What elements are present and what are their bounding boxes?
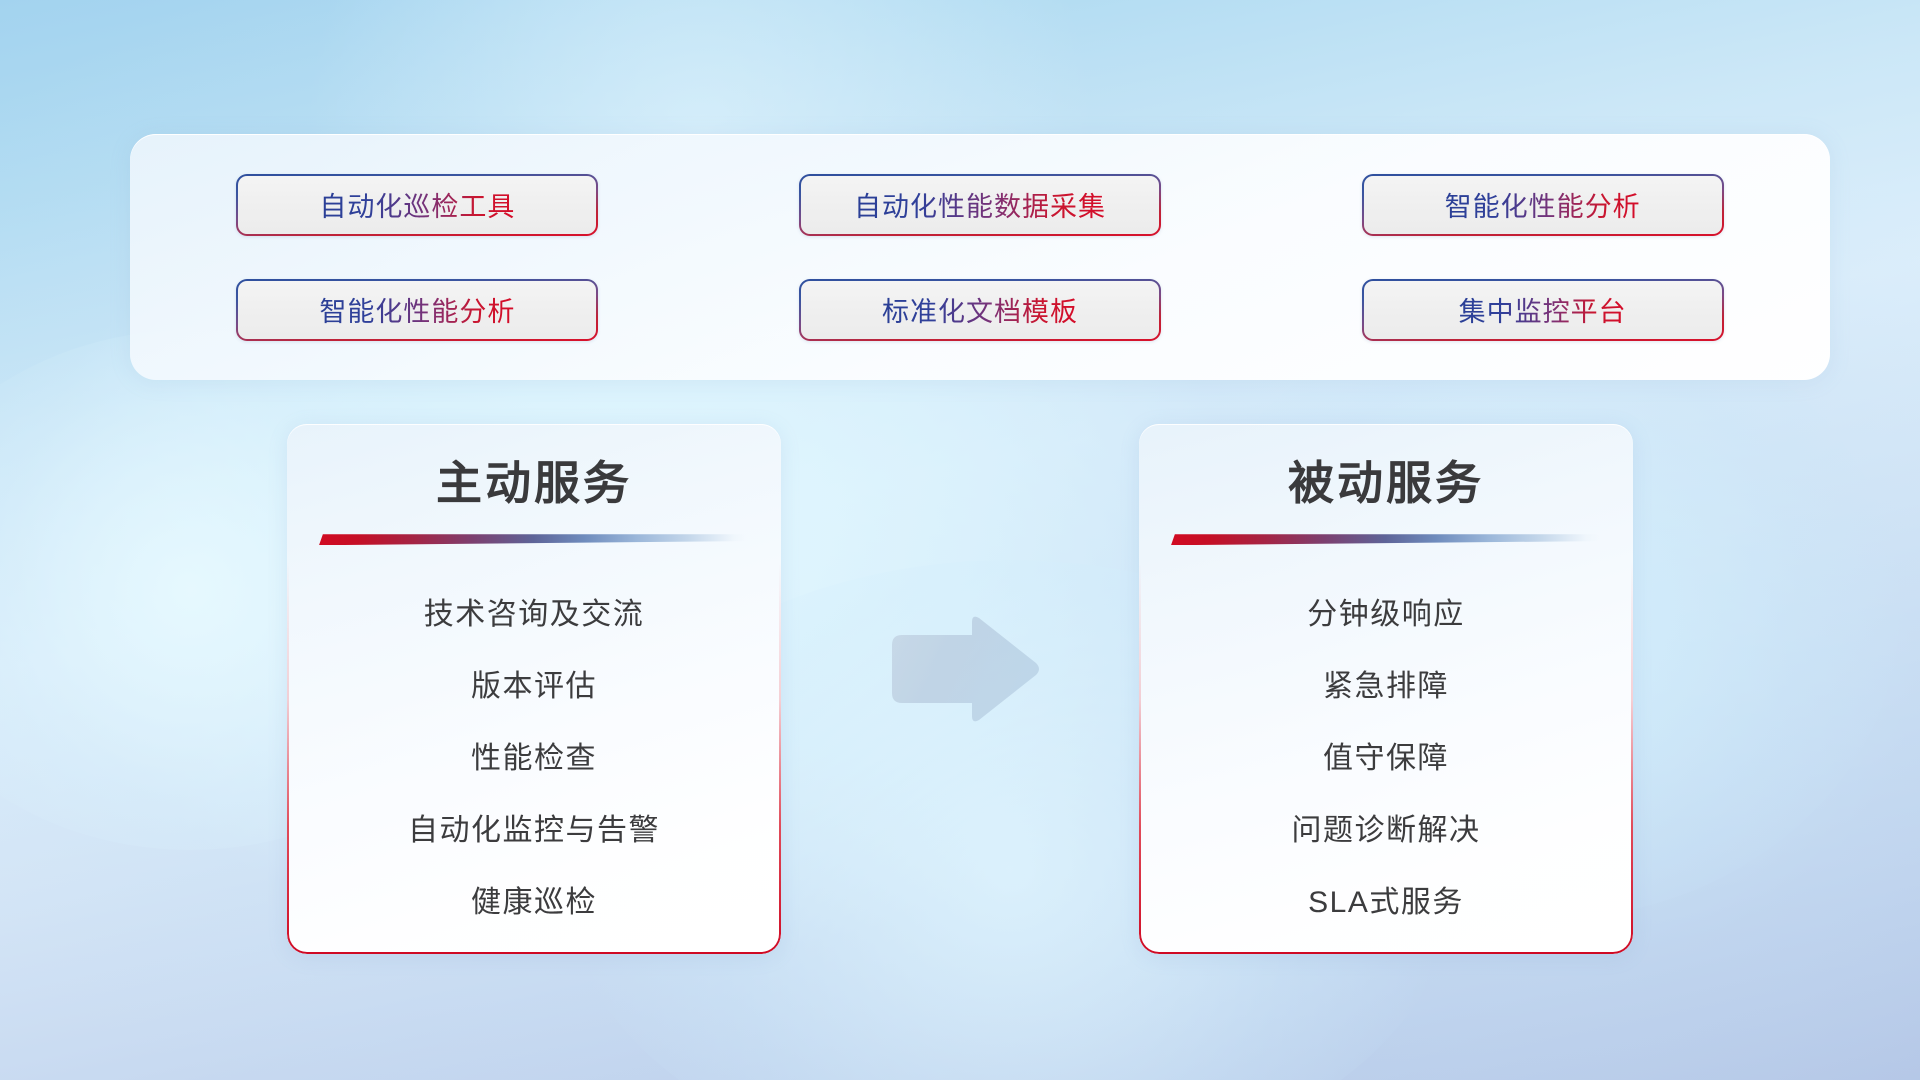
card-divider xyxy=(1171,534,1599,548)
pill-auto-inspection-tool[interactable]: 自动化巡检工具 xyxy=(236,174,598,236)
list-item: 健康巡检 xyxy=(471,866,597,938)
pill-inner: 智能化性能分析 xyxy=(238,281,596,339)
pill-label: 自动化巡检工具 xyxy=(319,185,515,224)
pill-inner: 集中监控平台 xyxy=(1364,281,1722,339)
capability-tools-panel: 自动化巡检工具 自动化性能数据采集 智能化性能分析 智能化性能分析 xyxy=(130,134,1830,380)
list-item: SLA式服务 xyxy=(1308,866,1464,938)
active-service-list: 技术咨询及交流 版本评估 性能检查 自动化监控与告警 健康巡检 xyxy=(313,578,755,938)
pill-inner: 自动化巡检工具 xyxy=(238,176,596,234)
card-divider xyxy=(319,534,747,548)
passive-service-card[interactable]: 被动服务 分钟级响应 紧急排障 值守保障 问题诊断解决 SLA式服务 xyxy=(1139,424,1633,954)
pill-label: 智能化性能分析 xyxy=(1445,185,1641,224)
pill-inner: 标准化文档模板 xyxy=(801,281,1159,339)
arrow-shape xyxy=(892,617,1039,722)
capability-pill-grid: 自动化巡检工具 自动化性能数据采集 智能化性能分析 智能化性能分析 xyxy=(130,134,1830,380)
pill-inner: 自动化性能数据采集 xyxy=(801,176,1159,234)
pill-label: 自动化性能数据采集 xyxy=(854,185,1106,224)
passive-service-list: 分钟级响应 紧急排障 值守保障 问题诊断解决 SLA式服务 xyxy=(1165,578,1607,938)
right-arrow-icon xyxy=(880,613,1042,725)
pill-label: 标准化文档模板 xyxy=(882,290,1078,329)
pill-label: 集中监控平台 xyxy=(1459,290,1627,329)
pill-intelligent-perf-analysis-2[interactable]: 智能化性能分析 xyxy=(236,279,598,341)
pill-inner: 智能化性能分析 xyxy=(1364,176,1722,234)
list-item: 值守保障 xyxy=(1323,722,1449,794)
list-item: 版本评估 xyxy=(471,650,597,722)
card-title: 主动服务 xyxy=(313,456,755,510)
card-divider-bar xyxy=(1171,534,1599,545)
list-item: 问题诊断解决 xyxy=(1292,794,1481,866)
pill-intelligent-perf-analysis[interactable]: 智能化性能分析 xyxy=(1362,174,1724,236)
pill-auto-perf-collection[interactable]: 自动化性能数据采集 xyxy=(799,174,1161,236)
card-divider-bar xyxy=(319,534,747,545)
list-item: 分钟级响应 xyxy=(1307,578,1465,650)
list-item: 性能检查 xyxy=(471,722,597,794)
list-item: 紧急排障 xyxy=(1323,650,1449,722)
pill-central-monitor-platform[interactable]: 集中监控平台 xyxy=(1362,279,1724,341)
list-item: 技术咨询及交流 xyxy=(424,578,645,650)
pill-standard-doc-template[interactable]: 标准化文档模板 xyxy=(799,279,1161,341)
list-item: 自动化监控与告警 xyxy=(408,794,660,866)
card-title: 被动服务 xyxy=(1165,456,1607,510)
active-service-card[interactable]: 主动服务 技术咨询及交流 版本评估 性能检查 自动化监控与告警 健康巡检 xyxy=(287,424,781,954)
slide-canvas: 自动化巡检工具 自动化性能数据采集 智能化性能分析 智能化性能分析 xyxy=(0,0,1920,1080)
pill-label: 智能化性能分析 xyxy=(319,290,515,329)
